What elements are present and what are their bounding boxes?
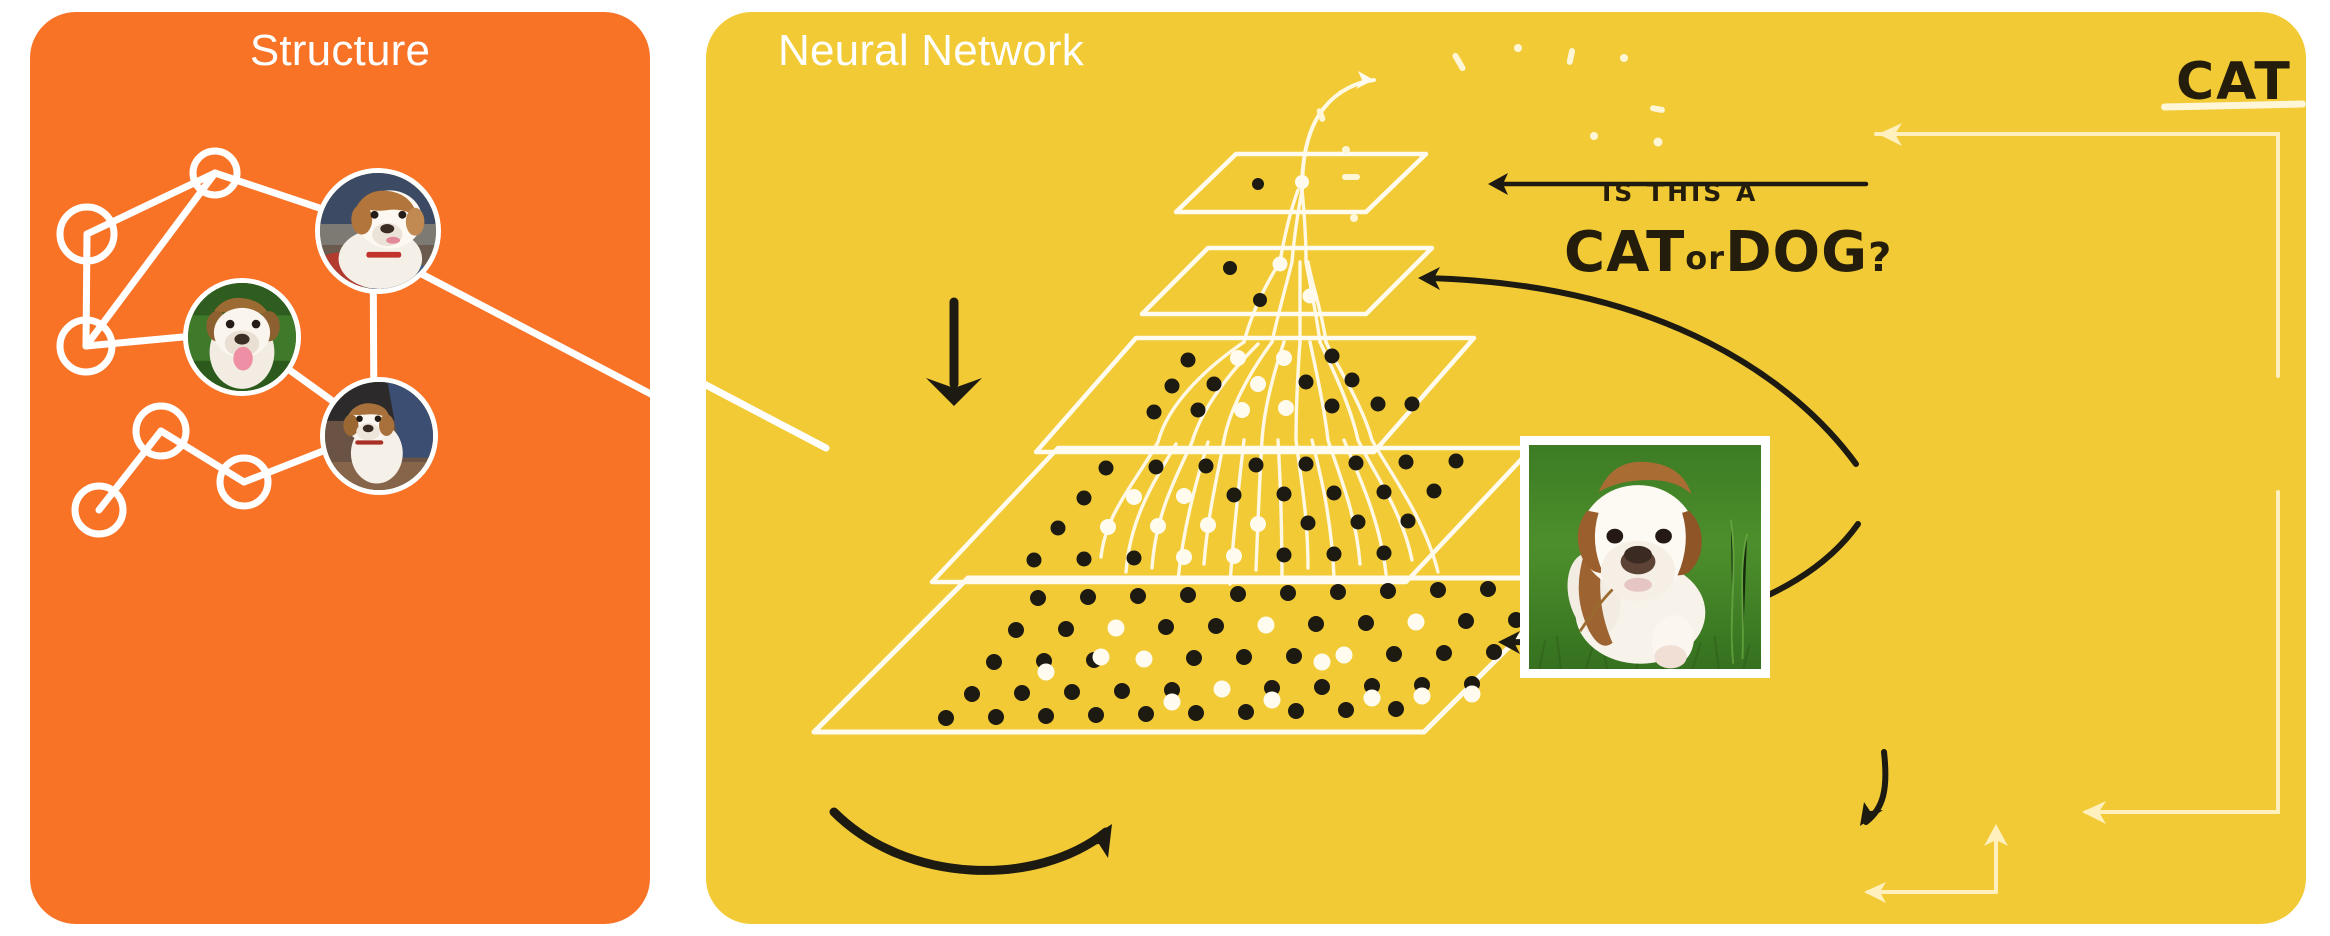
question-to-photo-down-arrow — [926, 302, 982, 406]
question-dog-word: DOG — [1725, 220, 1868, 285]
network-layer-hidden-3 — [1142, 248, 1432, 314]
network-diagram — [706, 12, 2306, 924]
activated-neurons-pointer-arrow-upper — [1418, 267, 1856, 464]
bulldog-puppy-sitting-image — [325, 382, 433, 490]
structure-panel-title: Structure — [30, 26, 650, 76]
graph-photo-node-bulldog-tongue-out[interactable] — [183, 278, 301, 396]
network-layer-hidden-2 — [1036, 338, 1474, 452]
bulldog-puppy-input-image — [1529, 445, 1761, 669]
infographic-stage: Structure — [0, 0, 2330, 936]
bulldog-tongue-out-image — [188, 283, 296, 391]
photo-to-input-curved-arrow — [834, 812, 1112, 870]
network-layer-input — [814, 578, 1578, 732]
neural-network-panel-title: Neural Network — [778, 26, 1084, 76]
dog-arrowhead-icon — [1356, 71, 1374, 89]
network-layer-hidden-1 — [932, 448, 1532, 582]
network-layer-output — [1176, 154, 1426, 212]
graph-photo-node-bulldog-puppy-sitting[interactable] — [320, 377, 438, 495]
bulldog-portrait-image — [320, 173, 436, 289]
neural-network-panel: Neural Network — [706, 12, 2306, 924]
question-cat-word: CAT — [1564, 220, 1685, 285]
deep-network-bracket — [1864, 123, 2278, 903]
question-line-2: CATorDOG? — [1564, 220, 1892, 285]
question-or-word: or — [1685, 239, 1725, 277]
structure-panel: Structure — [30, 12, 650, 924]
graph-node — [220, 458, 268, 506]
question-mark: ? — [1868, 235, 1892, 281]
graph-node — [75, 486, 123, 534]
question-line-1: IS THIS A — [1602, 178, 1758, 207]
graph-node — [193, 151, 237, 195]
graph-node — [60, 207, 114, 261]
graph-node — [60, 320, 112, 372]
structure-link-continuation — [706, 12, 2306, 924]
graph-photo-node-bulldog-portrait[interactable] — [315, 168, 441, 294]
input-photo-frame[interactable] — [1520, 436, 1770, 678]
input-layer-pointer-arrow — [1860, 752, 1885, 826]
graph-node — [136, 406, 186, 456]
